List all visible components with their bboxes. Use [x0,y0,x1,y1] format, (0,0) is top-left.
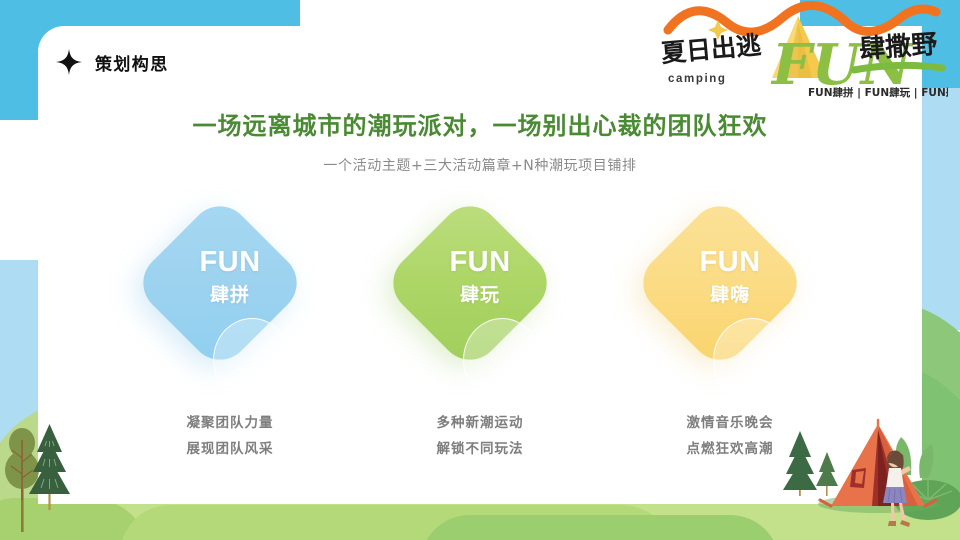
diamond-circle-0 [213,318,291,402]
feature-card-0[interactable]: FUN 肆拼 凝聚团队力量 展现团队风采 [100,214,360,462]
feature-card-1[interactable]: FUN 肆玩 多种新潮运动 解锁不同玩法 [350,214,610,462]
caption-line-0-1: 凝聚团队力量 [100,410,360,436]
feature-card-2[interactable]: FUN 肆嗨 激情音乐晚会 点燃狂欢高潮 [600,214,860,462]
main-heading: 一场远离城市的潮玩派对，一场别出心裁的团队狂欢 [0,106,960,141]
diamond-wrap-2: FUN 肆嗨 [600,214,860,404]
caption-line-2-2: 点燃狂欢高潮 [600,436,860,462]
slide-header: 策划构思 [56,49,169,75]
diamond-circle-2 [713,318,791,402]
page-title: 策划构思 [95,50,169,75]
caption-1: 多种新潮运动 解锁不同玩法 [350,410,610,462]
logo-tagline: FUN肆拼 | FUN肆玩 | FUN肆嗨 [808,86,948,99]
sub-heading: 一个活动主题+三大活动篇章+N种潮玩项目铺排 [0,155,960,175]
diamond-wrap-1: FUN 肆玩 [350,214,610,404]
logo-cn-right: 肆撒野 [858,30,938,65]
logo-cn-top: 夏日出逃 [660,30,762,68]
caption-line-1-2: 解锁不同玩法 [350,436,610,462]
logo-camping: camping [668,73,727,85]
diamond-wrap-0: FUN 肆拼 [100,214,360,404]
feature-cards: FUN 肆拼 凝聚团队力量 展现团队风采 FUN 肆玩 多种新潮运动 解锁不同玩 [0,214,960,484]
slide-root: 策划构思 夏日出逃 camping FUN 肆撒野 FUN肆 [0,0,960,540]
background-ground-bump [420,515,780,540]
caption-2: 激情音乐晚会 点燃狂欢高潮 [600,410,860,462]
caption-line-1-1: 多种新潮运动 [350,410,610,436]
diamond-circle-1 [463,318,541,402]
caption-line-0-2: 展现团队风采 [100,436,360,462]
four-point-star-icon [56,49,82,75]
caption-0: 凝聚团队力量 展现团队风采 [100,410,360,462]
event-logo: 夏日出逃 camping FUN 肆撒野 FUN肆拼 | FUN肆玩 | FUN… [648,0,948,104]
caption-line-2-1: 激情音乐晚会 [600,410,860,436]
